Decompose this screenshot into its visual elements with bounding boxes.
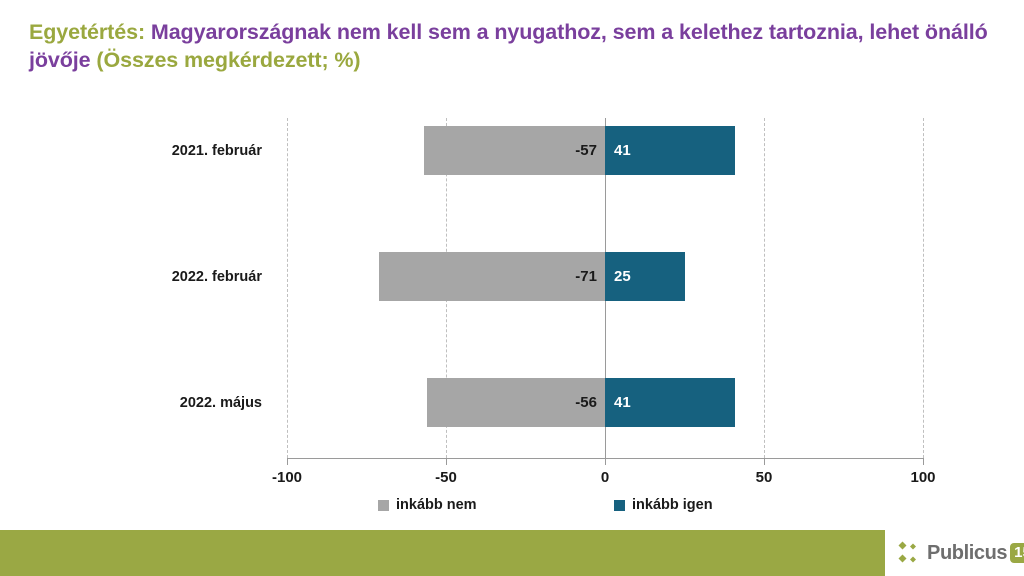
title-accent: Egyetértés: [29, 20, 145, 44]
bar-inkabb-igen: 41 [605, 126, 735, 175]
legend-item[interactable]: inkább nem [378, 497, 477, 513]
bar-value-label: 41 [605, 142, 631, 159]
logo-badge: 15 [1010, 543, 1024, 563]
legend-label: inkább igen [632, 497, 713, 513]
bar-inkabb-nem: -57 [424, 126, 605, 175]
footer-bar [0, 530, 885, 576]
bar-value-label: 41 [605, 394, 631, 411]
page-title: Egyetértés: Magyarországnak nem kell sem… [29, 18, 1004, 75]
bar-value-label: -56 [575, 394, 605, 411]
x-tick-100 [923, 458, 924, 465]
x-tick--50 [446, 458, 447, 465]
legend-swatch-icon [378, 500, 389, 511]
logo-wordmark: Publicus [927, 543, 1007, 563]
category-label: 2022. február [172, 269, 262, 285]
x-tick-label-100: 100 [910, 469, 935, 486]
title-subtitle: (Összes megkérdezett; %) [91, 48, 361, 72]
publicus-logo: Publicus 15 [896, 538, 1024, 568]
chart-row: 2022. február-7125 [0, 252, 1024, 301]
bar-inkabb-nem: -56 [427, 378, 605, 427]
bar-inkabb-igen: 41 [605, 378, 735, 427]
x-tick--100 [287, 458, 288, 465]
x-tick-label--50: -50 [435, 469, 457, 486]
category-label: 2021. február [172, 143, 262, 159]
x-tick-50 [764, 458, 765, 465]
x-tick-label-50: 50 [756, 469, 773, 486]
chart-row: 2022. május-5641 [0, 378, 1024, 427]
category-label: 2022. május [180, 395, 262, 411]
bar-value-label: -57 [575, 142, 605, 159]
chart-row: 2021. február-5741 [0, 126, 1024, 175]
bar-inkabb-igen: 25 [605, 252, 685, 301]
bar-value-label: 25 [605, 268, 631, 285]
legend-swatch-icon [614, 500, 625, 511]
x-tick-0 [605, 458, 606, 465]
x-tick-label--100: -100 [272, 469, 302, 486]
chart-legend: inkább neminkább igen [0, 497, 1024, 521]
legend-label: inkább nem [396, 497, 477, 513]
diverging-bar-chart: inkább neminkább igen -100-500501002021.… [0, 104, 1024, 516]
bar-inkabb-nem: -71 [379, 252, 605, 301]
diamond-cluster-icon [896, 540, 922, 566]
x-tick-label-0: 0 [601, 469, 609, 486]
bar-value-label: -71 [575, 268, 605, 285]
legend-item[interactable]: inkább igen [614, 497, 713, 513]
